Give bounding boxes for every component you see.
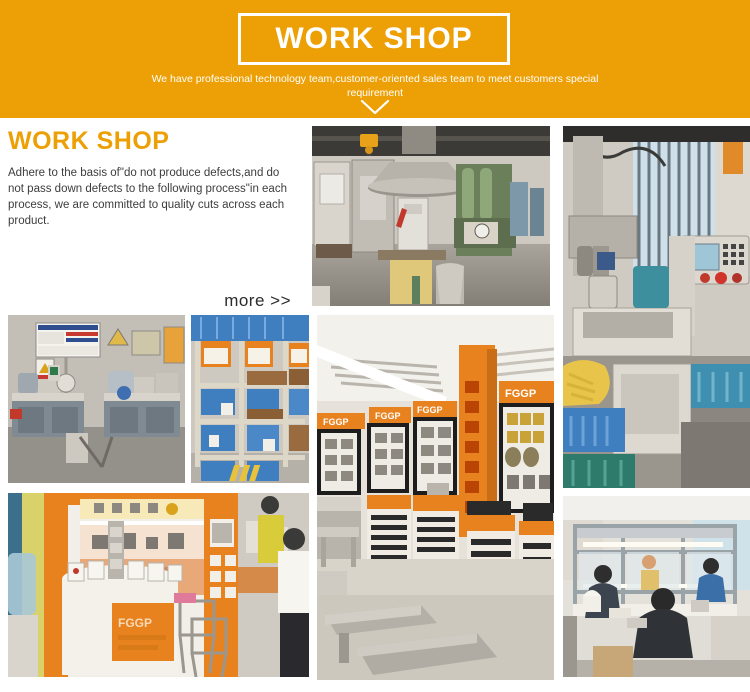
intro-text-block: WORK SHOP Adhere to the basis of"do not … xyxy=(8,126,293,311)
work-shop-page: WORK SHOP We have professional technolog… xyxy=(0,0,750,692)
photo-parts-shelving xyxy=(191,315,309,483)
banner-title: WORK SHOP xyxy=(275,24,472,54)
banner-subtitle: We have professional technology team,cus… xyxy=(150,72,600,100)
photo-cnc-drill xyxy=(563,126,750,488)
page-banner: WORK SHOP We have professional technolog… xyxy=(0,0,750,118)
page-title: WORK SHOP xyxy=(8,126,293,156)
photo-showroom: FGGP FGGP FGGP FGGP xyxy=(317,315,554,680)
chevron-down-icon xyxy=(360,99,390,115)
photo-inspection-line xyxy=(563,496,750,677)
banner-title-box: WORK SHOP xyxy=(238,13,510,65)
svg-text:FGGP: FGGP xyxy=(417,405,443,415)
svg-text:FGGP: FGGP xyxy=(375,411,401,421)
photo-exhibition-booth: FGGP xyxy=(8,493,309,677)
intro-description: Adhere to the basis of"do not produce de… xyxy=(8,165,289,229)
photo-furnace-line xyxy=(312,126,550,306)
photo-assembly-bench xyxy=(8,315,185,483)
svg-text:FGGP: FGGP xyxy=(118,616,152,630)
svg-text:FGGP: FGGP xyxy=(505,388,536,400)
svg-text:FGGP: FGGP xyxy=(323,417,349,427)
content-area: WORK SHOP Adhere to the basis of"do not … xyxy=(0,118,750,692)
more-link[interactable]: more >> xyxy=(224,291,291,311)
